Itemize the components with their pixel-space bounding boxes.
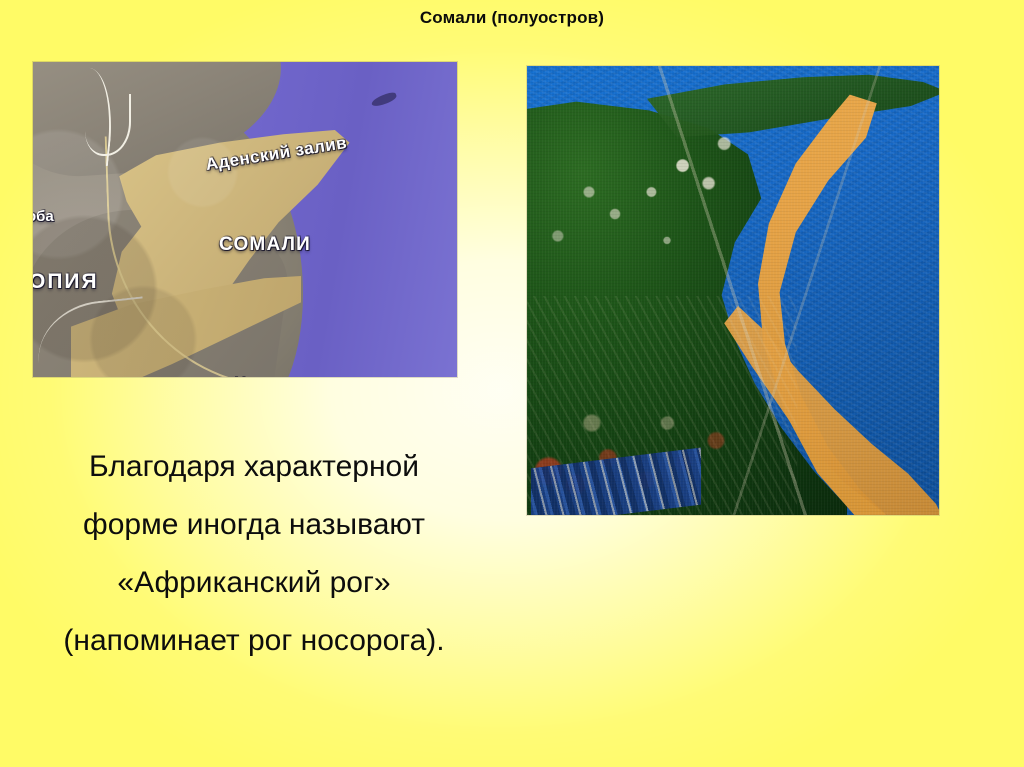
body-text-line-1: Благодаря характерной	[14, 438, 494, 496]
slide-canvas: Сомали (полуостров) Аденский залив СОМАЛ…	[0, 0, 1024, 767]
page-title: Сомали (полуостров)	[0, 8, 1024, 28]
body-text-line-2: форме иногда называют	[14, 496, 494, 554]
body-text-block: Благодаря характерной форме иногда назыв…	[14, 438, 494, 670]
map-image: Аденский залив СОМАЛИ Могадишо ОПИЯ оба	[33, 62, 457, 377]
body-text-line-3: «Африканский рог»	[14, 554, 494, 612]
photo-image	[527, 66, 939, 515]
photo-roads	[527, 66, 939, 515]
body-text-line-4: (напоминает рог носорога).	[14, 612, 494, 670]
